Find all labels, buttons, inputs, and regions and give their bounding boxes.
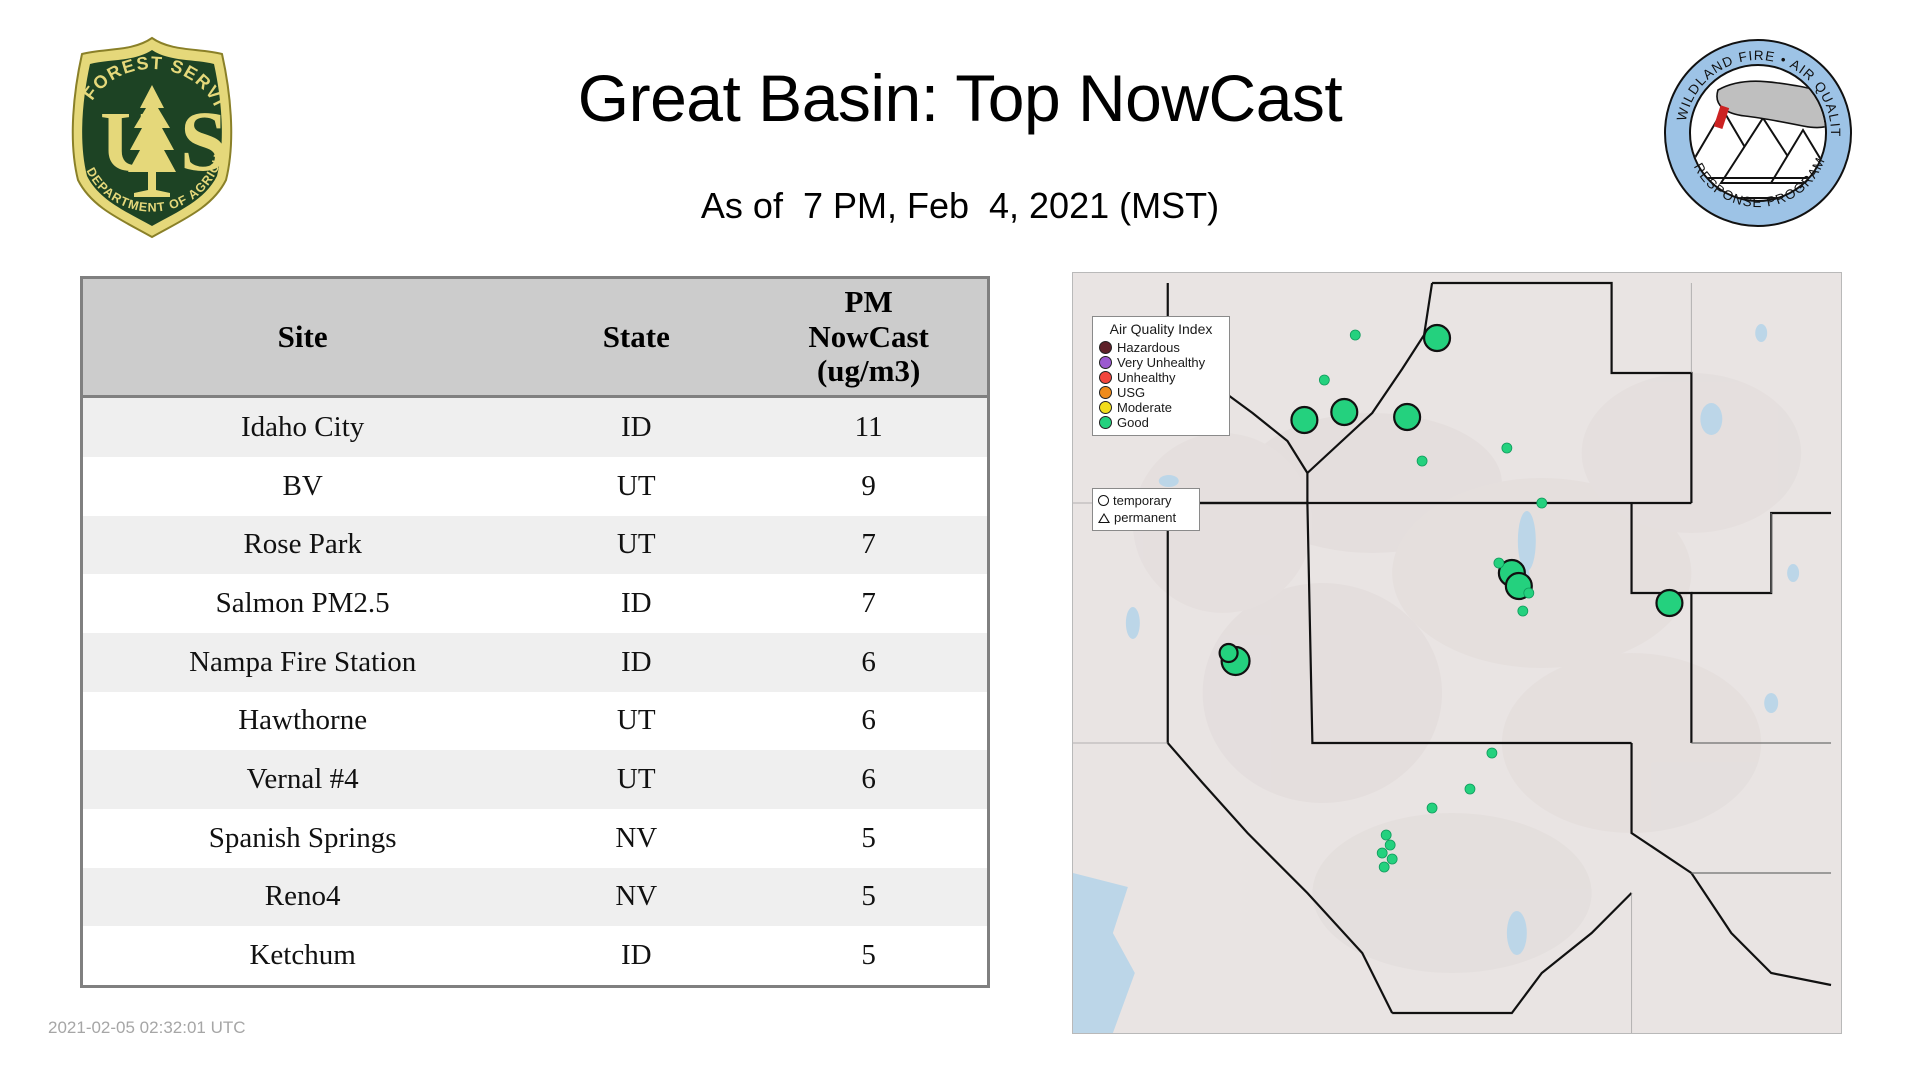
state-cell: NV	[522, 809, 750, 868]
pm-value-cell: 5	[750, 926, 987, 985]
legend-color-dot-icon	[1099, 401, 1112, 414]
table-row[interactable]: Salmon PM2.5ID7	[83, 574, 987, 633]
column-header-pm-line1: PM	[754, 285, 983, 320]
monitor-marker[interactable]	[1394, 404, 1420, 430]
site-cell: Reno4	[83, 868, 522, 927]
site-cell: Salmon PM2.5	[83, 574, 522, 633]
nowcast-table-container: Site State PM NowCast (ug/m3) Idaho City…	[80, 276, 990, 988]
legend-row-temporary: temporary	[1098, 492, 1194, 509]
air-quality-index-legend: Air Quality Index HazardousVery Unhealth…	[1092, 316, 1230, 436]
monitor-type-legend: temporary permanent	[1092, 488, 1200, 531]
monitor-marker[interactable]	[1331, 399, 1357, 425]
circle-icon	[1098, 495, 1109, 506]
pm-value-cell: 11	[750, 397, 987, 457]
site-cell: Nampa Fire Station	[83, 633, 522, 692]
state-cell: ID	[522, 574, 750, 633]
site-cell: BV	[83, 457, 522, 516]
monitor-marker[interactable]	[1387, 854, 1397, 864]
state-cell: UT	[522, 516, 750, 575]
site-cell: Spanish Springs	[83, 809, 522, 868]
monitor-marker[interactable]	[1377, 848, 1387, 858]
legend-label: Very Unhealthy	[1117, 355, 1205, 370]
legend-label: Unhealthy	[1117, 370, 1176, 385]
monitor-marker[interactable]	[1465, 784, 1475, 794]
legend-row: Good	[1099, 415, 1223, 430]
column-header-pm-line2: NowCast	[754, 320, 983, 355]
monitor-marker[interactable]	[1381, 830, 1391, 840]
nowcast-table: Site State PM NowCast (ug/m3) Idaho City…	[83, 279, 987, 985]
monitor-marker[interactable]	[1487, 748, 1497, 758]
site-cell: Ketchum	[83, 926, 522, 985]
monitor-marker[interactable]	[1656, 590, 1682, 616]
monitor-marker[interactable]	[1385, 840, 1395, 850]
legend-label: Moderate	[1117, 400, 1172, 415]
generated-timestamp: 2021-02-05 02:32:01 UTC	[48, 1018, 246, 1038]
table-body: Idaho CityID11BVUT9Rose ParkUT7Salmon PM…	[83, 397, 987, 985]
state-cell: ID	[522, 926, 750, 985]
forest-service-shield-icon: FOREST SERVICE U S DEPARTMENT OF AGRICUL…	[52, 30, 252, 245]
pm-value-cell: 5	[750, 868, 987, 927]
table-row[interactable]: Spanish SpringsNV5	[83, 809, 987, 868]
pm-value-cell: 6	[750, 750, 987, 809]
table-row[interactable]: BVUT9	[83, 457, 987, 516]
pm-value-cell: 9	[750, 457, 987, 516]
site-cell: Vernal #4	[83, 750, 522, 809]
wildland-fire-air-quality-icon: WILDLAND FIRE • AIR QUALITY RESPONSE PRO…	[1663, 38, 1853, 228]
table-row[interactable]: KetchumID5	[83, 926, 987, 985]
legend-color-dot-icon	[1099, 371, 1112, 384]
monitor-marker[interactable]	[1518, 606, 1528, 616]
monitor-marker[interactable]	[1379, 862, 1389, 872]
monitor-marker[interactable]	[1424, 325, 1450, 351]
legend-title: Air Quality Index	[1099, 321, 1223, 337]
column-header-site[interactable]: Site	[83, 279, 522, 397]
page-title: Great Basin: Top NowCast	[300, 60, 1620, 136]
table-row[interactable]: Rose ParkUT7	[83, 516, 987, 575]
table-row[interactable]: HawthorneUT6	[83, 692, 987, 751]
site-cell: Idaho City	[83, 397, 522, 457]
pm-value-cell: 7	[750, 516, 987, 575]
legend-row-permanent: permanent	[1098, 509, 1194, 526]
legend-color-dot-icon	[1099, 386, 1112, 399]
site-cell: Rose Park	[83, 516, 522, 575]
pm-value-cell: 6	[750, 692, 987, 751]
monitor-marker[interactable]	[1427, 803, 1437, 813]
state-cell: UT	[522, 750, 750, 809]
legend-label: Good	[1117, 415, 1149, 430]
monitor-marker[interactable]	[1319, 375, 1329, 385]
column-header-pm-line3: (ug/m3)	[754, 354, 983, 389]
legend-row: Unhealthy	[1099, 370, 1223, 385]
monitor-marker[interactable]	[1291, 407, 1317, 433]
table-row[interactable]: Idaho CityID11	[83, 397, 987, 457]
pm-value-cell: 6	[750, 633, 987, 692]
table-header: Site State PM NowCast (ug/m3)	[83, 279, 987, 397]
legend-row: USG	[1099, 385, 1223, 400]
column-header-state[interactable]: State	[522, 279, 750, 397]
monitor-marker[interactable]	[1537, 498, 1547, 508]
legend-row: Very Unhealthy	[1099, 355, 1223, 370]
table-header-row: Site State PM NowCast (ug/m3)	[83, 279, 987, 397]
legend-color-dot-icon	[1099, 356, 1112, 369]
state-cell: NV	[522, 868, 750, 927]
legend-color-dot-icon	[1099, 341, 1112, 354]
table-row[interactable]: Vernal #4UT6	[83, 750, 987, 809]
legend-row: Moderate	[1099, 400, 1223, 415]
legend-label: Hazardous	[1117, 340, 1180, 355]
site-cell: Hawthorne	[83, 692, 522, 751]
monitor-marker[interactable]	[1417, 456, 1427, 466]
monitor-marker[interactable]	[1220, 644, 1238, 662]
legend-row: Hazardous	[1099, 340, 1223, 355]
pm-value-cell: 7	[750, 574, 987, 633]
monitor-marker[interactable]	[1502, 443, 1512, 453]
wfaqrp-logo: WILDLAND FIRE • AIR QUALITY RESPONSE PRO…	[1663, 38, 1853, 228]
monitor-marker[interactable]	[1494, 558, 1504, 568]
usda-forest-service-logo: FOREST SERVICE U S DEPARTMENT OF AGRICUL…	[52, 30, 252, 245]
table-row[interactable]: Nampa Fire StationID6	[83, 633, 987, 692]
state-cell: UT	[522, 692, 750, 751]
legend-color-dot-icon	[1099, 416, 1112, 429]
legend-items: HazardousVery UnhealthyUnhealthyUSGModer…	[1099, 340, 1223, 430]
legend-label-temporary: temporary	[1113, 493, 1172, 508]
pm-value-cell: 5	[750, 809, 987, 868]
state-cell: ID	[522, 397, 750, 457]
table-row[interactable]: Reno4NV5	[83, 868, 987, 927]
legend-label-permanent: permanent	[1114, 510, 1176, 525]
poster-root: FOREST SERVICE U S DEPARTMENT OF AGRICUL…	[0, 0, 1920, 1080]
page-subtitle: As of 7 PM, Feb 4, 2021 (MST)	[300, 185, 1620, 227]
state-cell: UT	[522, 457, 750, 516]
column-header-pm-nowcast[interactable]: PM NowCast (ug/m3)	[750, 279, 987, 397]
monitor-marker[interactable]	[1350, 330, 1360, 340]
triangle-icon	[1098, 513, 1110, 523]
state-cell: ID	[522, 633, 750, 692]
legend-label: USG	[1117, 385, 1145, 400]
monitor-marker[interactable]	[1524, 588, 1534, 598]
